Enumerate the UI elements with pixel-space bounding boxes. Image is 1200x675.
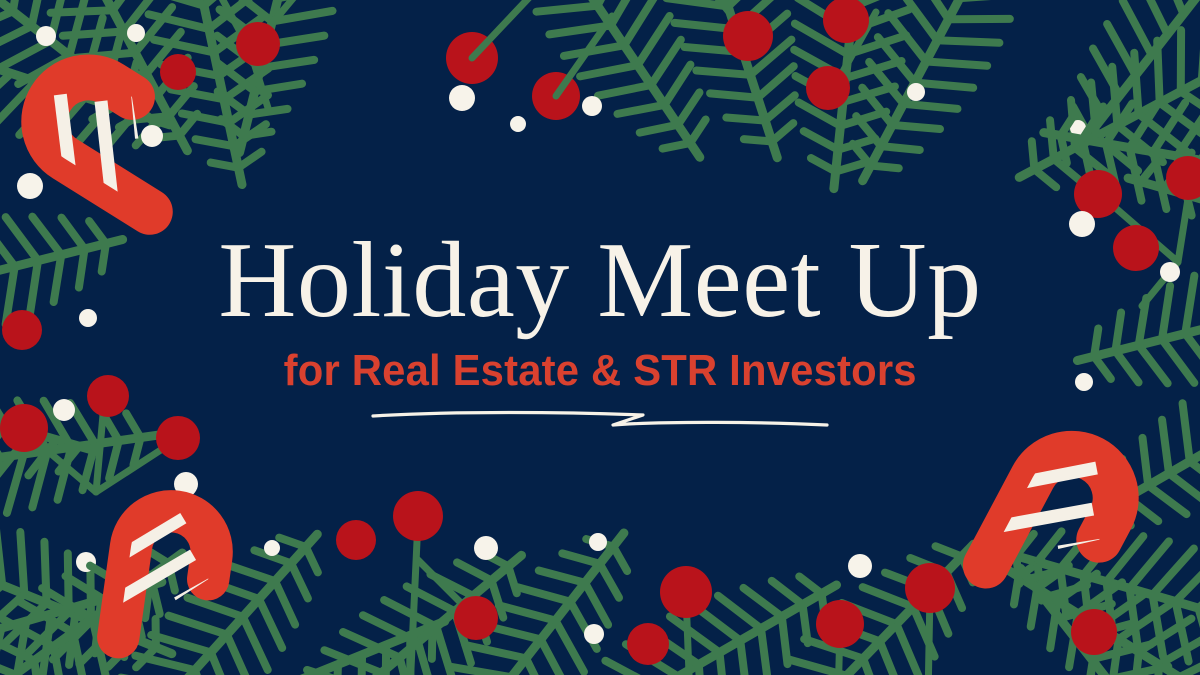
berry-icon: [1071, 609, 1117, 655]
snow-dot-icon: [127, 24, 145, 42]
snow-dot-icon: [474, 536, 498, 560]
snow-dot-icon: [17, 173, 43, 199]
snow-dot-icon: [907, 83, 925, 101]
snow-dot-icon: [582, 96, 602, 116]
berry-icon: [87, 375, 129, 417]
berry-icon: [627, 623, 669, 665]
decorative-border-illustration: [0, 0, 1200, 675]
berry-icon: [160, 54, 196, 90]
snow-dot-icon: [1075, 373, 1093, 391]
snow-dot-icon: [36, 26, 56, 46]
snow-dot-icon: [1069, 211, 1095, 237]
snow-dot-icon: [53, 399, 75, 421]
snow-dot-icon: [1160, 262, 1180, 282]
berry-icon: [236, 22, 280, 66]
snow-dot-icon: [510, 116, 526, 132]
berry-icon: [393, 491, 443, 541]
berry-icon: [1074, 170, 1122, 218]
berry-icon: [0, 404, 48, 452]
snow-dot-icon: [264, 540, 280, 556]
holiday-event-poster: Holiday Meet Up for Real Estate & STR In…: [0, 0, 1200, 675]
berry-icon: [336, 520, 376, 560]
snow-dot-icon: [589, 533, 607, 551]
berry-icon: [905, 563, 955, 613]
berry-icon: [660, 566, 712, 618]
berry-icon: [1113, 225, 1159, 271]
snow-dot-icon: [141, 125, 163, 147]
berry-icon: [816, 600, 864, 648]
snow-dot-icon: [584, 624, 604, 644]
berry-icon: [723, 11, 773, 61]
snow-dot-icon: [449, 85, 475, 111]
snow-dot-icon: [79, 309, 97, 327]
berry-icon: [156, 416, 200, 460]
berry-icon: [806, 66, 850, 110]
berry-icon: [454, 596, 498, 640]
snow-dot-icon: [848, 554, 872, 578]
berry-icon: [2, 310, 42, 350]
